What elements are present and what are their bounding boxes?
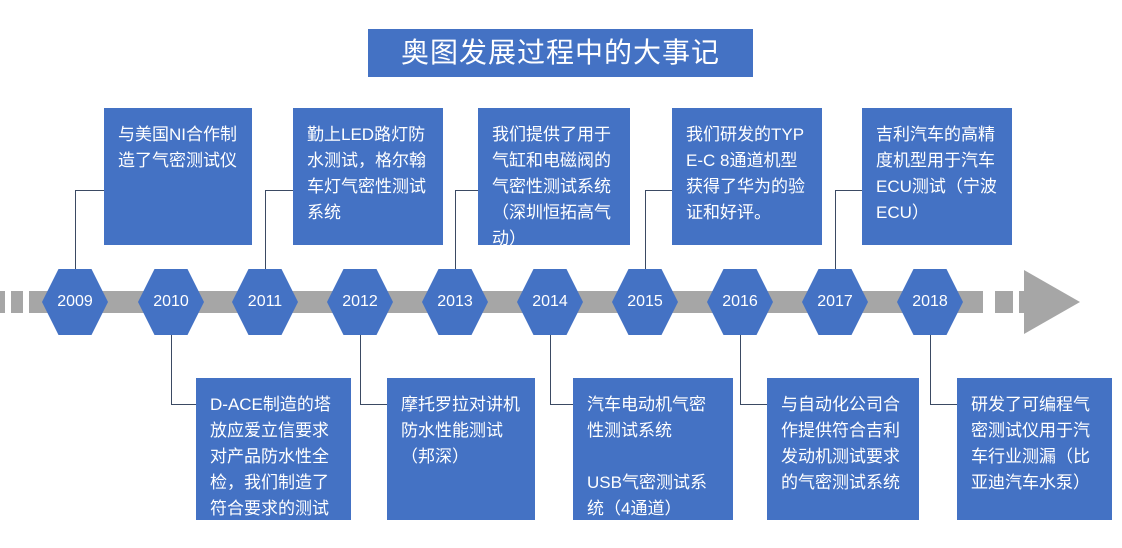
connector-line-vertical (835, 190, 836, 269)
connector-line-vertical (171, 335, 172, 404)
event-text: 我们提供了用于气缸和电磁阀的气密性测试系统（深圳恒拓高气动） (492, 122, 618, 252)
connector-line-horizontal (455, 190, 478, 191)
event-text: 吉利汽车的高精度机型用于汽车ECU测试（宁波ECU） (876, 122, 1000, 226)
connector-line-vertical (645, 190, 646, 269)
event-text: 与自动化公司合作提供符合吉利发动机测试要求的气密测试系统 (781, 392, 907, 496)
event-text: 汽车电动机气密性测试系统 (587, 392, 721, 444)
connector-line-horizontal (360, 404, 387, 405)
connector-line-vertical (360, 335, 361, 404)
event-text: 摩托罗拉对讲机防水性能测试（邦深） (401, 392, 523, 470)
connector-line-horizontal (265, 190, 293, 191)
timeline-bar-dash-1 (0, 291, 5, 313)
timeline-node-2015[interactable]: 2015 (612, 269, 678, 335)
event-text-secondary: USB气密测试系统（4通道） (587, 470, 721, 522)
timeline-bar-dash-2 (11, 291, 23, 313)
timeline-arrow-head (1024, 270, 1080, 334)
connector-line-horizontal (171, 404, 196, 405)
timeline-node-2012[interactable]: 2012 (327, 269, 393, 335)
timeline-node-2010[interactable]: 2010 (138, 269, 204, 335)
event-box-2015[interactable]: 我们研发的TYPE-C 8通道机型获得了华为的验证和好评。 (672, 108, 822, 245)
timeline-bar-dash-4 (995, 291, 1013, 313)
timeline-node-year-label: 2014 (532, 294, 568, 310)
timeline-node-year-label: 2010 (153, 294, 189, 310)
timeline-node-year-label: 2018 (912, 294, 948, 310)
page-title-text: 奥图发展过程中的大事记 (401, 39, 720, 67)
connector-line-vertical (455, 190, 456, 269)
event-box-2010[interactable]: D-ACE制造的塔放应爱立信要求对产品防水性全检，我们制造了符合要求的测试系统。 (196, 378, 351, 520)
event-box-2011[interactable]: 勤上LED路灯防水测试，格尔翰车灯气密性测试系统 (293, 108, 443, 245)
event-box-2009[interactable]: 与美国NI合作制造了气密测试仪 (104, 108, 252, 245)
event-text: 我们研发的TYPE-C 8通道机型获得了华为的验证和好评。 (686, 122, 810, 226)
timeline-diagram: 奥图发展过程中的大事记 与美国NI合作制造了气密测试仪2009D-ACE制造的塔… (0, 0, 1122, 548)
timeline-node-2018[interactable]: 2018 (897, 269, 963, 335)
connector-line-vertical (930, 335, 931, 404)
event-box-2013[interactable]: 我们提供了用于气缸和电磁阀的气密性测试系统（深圳恒拓高气动） (478, 108, 630, 245)
event-box-2017[interactable]: 吉利汽车的高精度机型用于汽车ECU测试（宁波ECU） (862, 108, 1012, 245)
timeline-node-2009[interactable]: 2009 (42, 269, 108, 335)
connector-line-horizontal (835, 190, 862, 191)
timeline-node-year-label: 2013 (437, 294, 473, 310)
timeline-node-year-label: 2016 (722, 294, 758, 310)
timeline-node-year-label: 2017 (817, 294, 853, 310)
event-box-2016[interactable]: 与自动化公司合作提供符合吉利发动机测试要求的气密测试系统 (767, 378, 919, 520)
connector-line-vertical (75, 190, 76, 269)
timeline-node-year-label: 2015 (627, 294, 663, 310)
page-title: 奥图发展过程中的大事记 (368, 29, 753, 77)
connector-line-horizontal (740, 404, 767, 405)
timeline-node-year-label: 2012 (342, 294, 378, 310)
event-box-2018[interactable]: 研发了可编程气密测试仪用于汽车行业测漏（比亚迪汽车水泵） (957, 378, 1112, 520)
connector-line-vertical (550, 335, 551, 404)
timeline-node-year-label: 2009 (57, 294, 93, 310)
connector-line-horizontal (75, 190, 104, 191)
timeline-node-2016[interactable]: 2016 (707, 269, 773, 335)
event-box-2012[interactable]: 摩托罗拉对讲机防水性能测试（邦深） (387, 378, 535, 520)
event-text: 研发了可编程气密测试仪用于汽车行业测漏（比亚迪汽车水泵） (971, 392, 1100, 496)
timeline-node-year-label: 2011 (248, 294, 282, 310)
event-text: 与美国NI合作制造了气密测试仪 (118, 122, 240, 174)
timeline-node-2017[interactable]: 2017 (802, 269, 868, 335)
connector-line-horizontal (930, 404, 957, 405)
event-text: D-ACE制造的塔放应爱立信要求对产品防水性全检，我们制造了符合要求的测试系统。 (210, 392, 339, 548)
event-box-2014[interactable]: 汽车电动机气密性测试系统USB气密测试系统（4通道） (573, 378, 733, 520)
connector-line-vertical (265, 190, 266, 269)
event-text: 勤上LED路灯防水测试，格尔翰车灯气密性测试系统 (307, 122, 431, 226)
timeline-node-2014[interactable]: 2014 (517, 269, 583, 335)
timeline-node-2011[interactable]: 2011 (232, 269, 298, 335)
connector-line-vertical (740, 335, 741, 404)
connector-line-horizontal (645, 190, 672, 191)
timeline-node-2013[interactable]: 2013 (422, 269, 488, 335)
connector-line-horizontal (550, 404, 573, 405)
